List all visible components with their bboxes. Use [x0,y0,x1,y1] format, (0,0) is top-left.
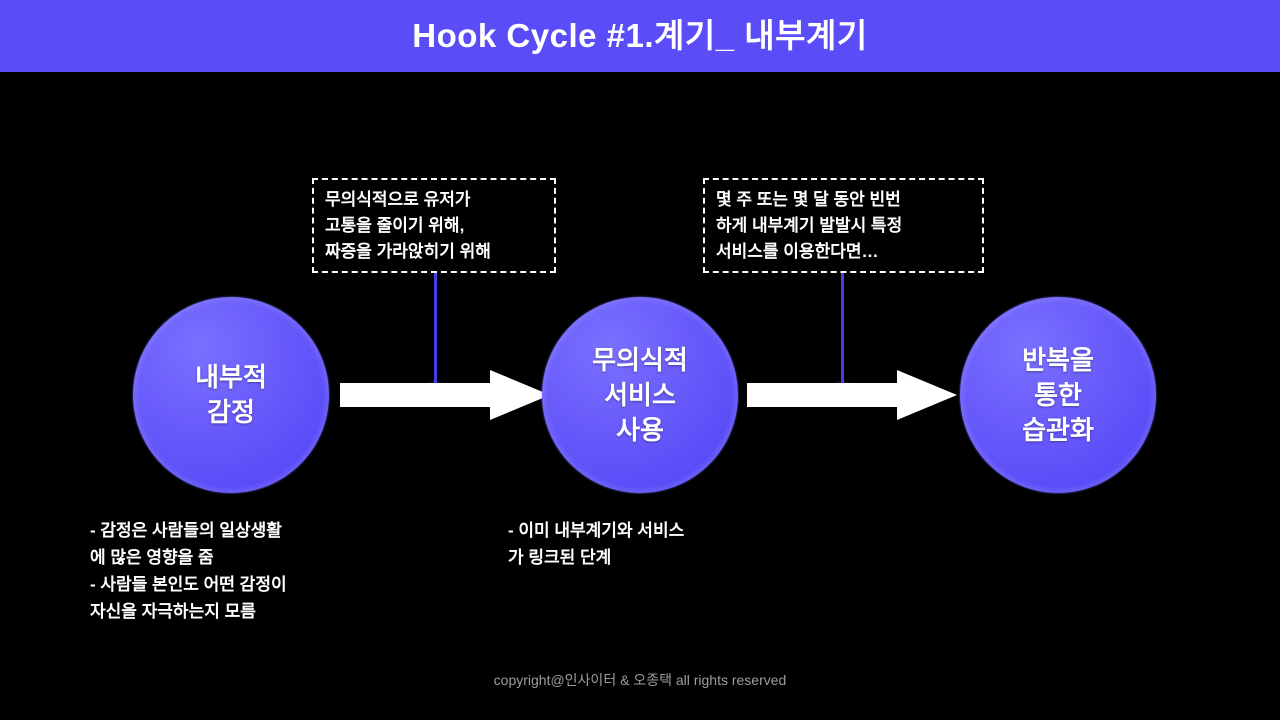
copyright-footer: copyright@인사이터 & 오종택 all rights reserved [0,670,1280,690]
stage-circle-label: 무의식적 서비스 사용 [542,297,738,493]
flow-arrow-1 [340,370,550,420]
stage-circle-label: 반복을 통한 습관화 [960,297,1156,493]
stage-circle-internal-emotion: 내부적 감정 [133,297,329,493]
stage-circle-habit-through-repetition: 반복을 통한 습관화 [960,297,1156,493]
page-title: Hook Cycle #1.계기_ 내부계기 [0,0,1280,72]
stage-circle-unconscious-service-use: 무의식적 서비스 사용 [542,297,738,493]
note-middle: - 이미 내부계기와 서비스 가 링크된 단계 [508,517,808,571]
flow-arrow-2 [747,370,957,420]
slide-canvas: Hook Cycle #1.계기_ 내부계기 무의식적으로 유저가 고통을 줄이… [0,0,1280,720]
stage-circle-label: 내부적 감정 [133,297,329,493]
callout-box-right: 몇 주 또는 몇 달 동안 빈번 하게 내부계기 발발시 특정 서비스를 이용한… [703,178,984,273]
note-left: - 감정은 사람들의 일상생활 에 많은 영향을 줌 - 사람들 본인도 어떤 … [90,517,390,625]
callout-box-left: 무의식적으로 유저가 고통을 줄이기 위해, 짜증을 가라앉히기 위해 [312,178,556,273]
